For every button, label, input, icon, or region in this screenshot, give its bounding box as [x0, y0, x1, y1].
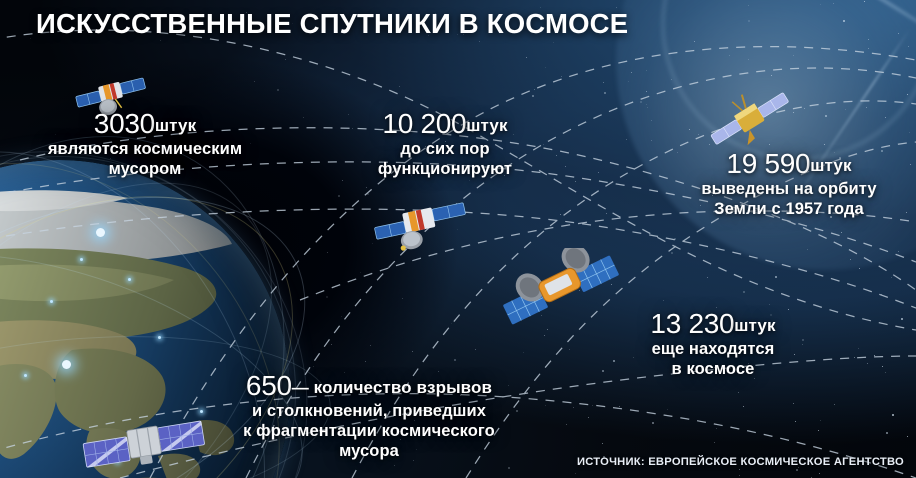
stat-still-functioning: 10 200штук до сих пор функционируют	[350, 108, 540, 179]
stat-unit: штук	[466, 116, 507, 135]
stat-text-line: до сих пор	[350, 139, 540, 159]
stat-unit: штук	[810, 156, 851, 175]
stat-text-line: мусором	[36, 159, 254, 179]
stat-text-line: Земли с 1957 года	[676, 199, 902, 219]
stat-text-line: и столкновений, приведших	[228, 401, 510, 421]
stat-unit: — количество взрывов	[292, 378, 492, 397]
stat-value: 13 230	[650, 308, 734, 339]
stat-text-line: в космосе	[608, 359, 818, 379]
stat-text-line: мусора	[228, 441, 510, 461]
stat-value-line: 3030штук	[36, 108, 254, 139]
stat-launched-since-1957: 19 590штук выведены на орбиту Земли с 19…	[676, 148, 902, 219]
stat-value-line: 10 200штук	[350, 108, 540, 139]
stat-text-line: выведены на орбиту	[676, 179, 902, 199]
stat-still-in-space: 13 230штук еще находятся в космосе	[608, 308, 818, 379]
stat-value-line: 19 590штук	[676, 148, 902, 179]
stat-value: 3030	[94, 108, 155, 139]
stat-unit: штук	[734, 316, 775, 335]
stat-value: 10 200	[382, 108, 466, 139]
stat-text-line: к фрагментации космического	[228, 421, 510, 441]
stat-value-line: 13 230штук	[608, 308, 818, 339]
satellite-over-earth	[82, 420, 208, 475]
source-credit: ИСТОЧНИК: ЕВРОПЕЙСКОЕ КОСМИЧЕСКОЕ АГЕНТС…	[577, 456, 904, 468]
stat-explosions-collisions: 650— количество взрывов и столкновений, …	[228, 370, 510, 461]
stat-value-line: 650— количество взрывов	[228, 370, 510, 401]
stat-text-line: являются космическим	[36, 139, 254, 159]
satellite-center	[372, 190, 468, 257]
satellite-large-center-right	[500, 248, 622, 337]
stat-space-debris: 3030штук являются космическим мусором	[36, 108, 254, 179]
stat-value: 19 590	[726, 148, 810, 179]
stat-value: 650	[246, 370, 292, 401]
satellite-upper-right	[704, 88, 796, 155]
stat-text-line: еще находятся	[608, 339, 818, 359]
infographic-canvas: ИСКУССТВЕННЫЕ СПУТНИКИ В КОСМОСЕ 3030шту…	[0, 0, 916, 478]
page-title: ИСКУССТВЕННЫЕ СПУТНИКИ В КОСМОСЕ	[36, 8, 628, 40]
stat-unit: штук	[155, 116, 196, 135]
stat-text-line: функционируют	[350, 159, 540, 179]
